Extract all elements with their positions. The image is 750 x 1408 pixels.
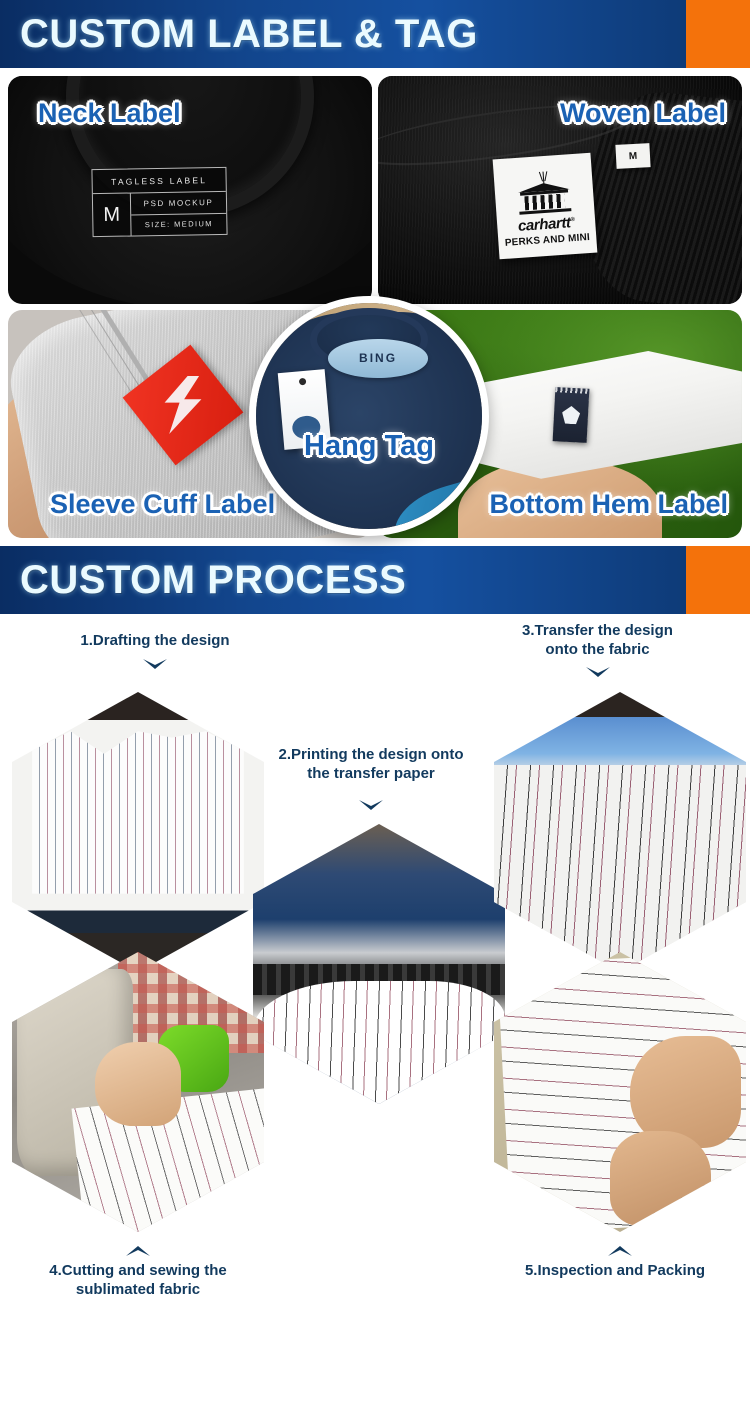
section-title-process: CUSTOM PROCESS: [0, 558, 406, 603]
chevron-up-icon-4: [125, 1244, 151, 1257]
neck-oval-label: BING: [328, 339, 427, 377]
label-types-section: TAGLESS LABEL M PSD MOCKUP SIZE: MEDIUM …: [0, 68, 750, 546]
process-section: 1.Drafting the design 3.Transfer the des…: [0, 614, 750, 1314]
step-1-caption: 1.Drafting the design: [35, 632, 275, 651]
worker-hand: [95, 1042, 181, 1126]
woven-tag-graphic: \|/ carhartt® PERKS AND MINI: [493, 153, 598, 260]
registered-mark: ®: [570, 217, 574, 223]
process-image-1-drafting[interactable]: [12, 692, 264, 972]
size-tab: M: [615, 143, 650, 169]
step-2-caption: 2.Printing the design ontothe transfer p…: [262, 746, 480, 784]
custom-label-banner: CUSTOM LABEL & TAG: [0, 0, 750, 68]
page-title: CUSTOM LABEL & TAG: [0, 12, 478, 57]
banner-accent-block-process: [686, 546, 750, 614]
chevron-down-icon-1: [142, 658, 168, 671]
navy-hem-label: [553, 387, 590, 443]
process-image-3-transfer[interactable]: [494, 692, 746, 972]
striped-fabric: [494, 765, 746, 972]
temple-logo-icon: [517, 181, 571, 215]
panel-neck-label[interactable]: TAGLESS LABEL M PSD MOCKUP SIZE: MEDIUM …: [8, 76, 372, 304]
step-4-caption: 4.Cutting and sewing thesublimated fabri…: [18, 1262, 258, 1300]
chevron-up-icon-5: [607, 1244, 633, 1257]
panel-caption-hang-tag: Hang Tag: [304, 430, 434, 463]
step-3-caption: 3.Transfer the designonto the fabric: [480, 622, 715, 660]
pattern-pieces: [32, 731, 244, 893]
tagless-line-2: SIZE: MEDIUM: [131, 213, 226, 235]
woven-tag-brand: carhartt®: [517, 214, 575, 235]
panel-caption-woven-label: Woven Label: [560, 98, 726, 129]
custom-process-banner: CUSTOM PROCESS: [0, 546, 750, 614]
chevron-down-icon-3: [585, 666, 611, 679]
panel-woven-label[interactable]: \|/ carhartt® PERKS AND MINI M Woven Lab…: [378, 76, 742, 304]
banner-accent-block: [686, 0, 750, 68]
process-image-5-inspection[interactable]: [494, 952, 746, 1232]
banner-bar: CUSTOM LABEL & TAG: [0, 0, 686, 68]
sunburst-icon: \|/: [539, 172, 547, 182]
brand-text: carhartt: [517, 214, 571, 235]
panel-caption-sleeve-cuff-label: Sleeve Cuff Label: [50, 489, 275, 520]
tagless-line-1: PSD MOCKUP: [131, 192, 226, 215]
printed-transfer-paper: [253, 981, 505, 1104]
lightning-bolt-icon: [154, 376, 212, 434]
tagless-size-letter: M: [93, 193, 132, 236]
panel-caption-bottom-hem-label: Bottom Hem Label: [489, 489, 728, 520]
hang-tag-hole: [298, 378, 306, 386]
tagless-title: TAGLESS LABEL: [92, 168, 225, 194]
inspector-hand-left: [610, 1131, 711, 1226]
step-5-caption: 5.Inspection and Packing: [490, 1262, 740, 1281]
tagless-label-graphic: TAGLESS LABEL M PSD MOCKUP SIZE: MEDIUM: [91, 167, 227, 237]
hang-tag-circle-overlay[interactable]: BING Hang Tag: [249, 296, 489, 536]
woven-tag-subtitle: PERKS AND MINI: [505, 232, 591, 249]
chevron-down-icon-2: [358, 799, 384, 812]
process-image-2-printing[interactable]: [253, 824, 505, 1104]
banner-bar-process: CUSTOM PROCESS: [0, 546, 686, 614]
process-image-4-sewing[interactable]: [12, 952, 264, 1232]
hem-label-logo-icon: [562, 406, 581, 425]
panel-caption-neck-label: Neck Label: [38, 98, 181, 129]
